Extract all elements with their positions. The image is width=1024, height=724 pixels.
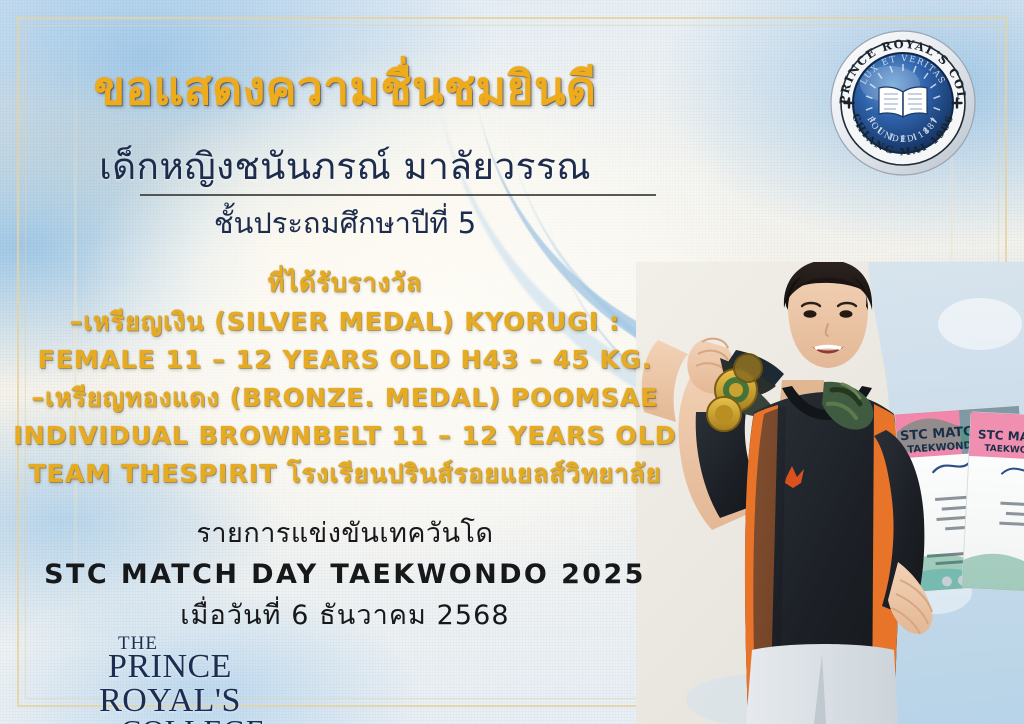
student-name: เด็กหญิงชนันภรณ์ มาลัยวรรณ [0, 137, 690, 196]
award-line: INDIVIDUAL BROWNBELT 11 – 12 YEARS OLD [0, 423, 690, 448]
event-line: รายการแข่งขันเทควันโด [0, 520, 690, 547]
page-title: ขอแสดงความชื่นชมยินดี [0, 52, 690, 125]
student-photo: STC MATCH DAY TAEKWONDO 2025 [636, 262, 1024, 724]
open-book-icon [879, 87, 927, 117]
event-details: รายการแข่งขันเทควันโด STC MATCH DAY TAEK… [0, 520, 690, 629]
congratulations-poster: STC MATCH DAY TAEKWONDO 2025 [0, 0, 1024, 724]
student-grade: ชั้นประถมศึกษาปีที่ 5 [0, 200, 690, 246]
award-line: TEAM THESPIRIT โรงเรียนปรินส์รอยแยลส์วิท… [0, 461, 690, 486]
award-details: ที่ได้รับรางวัล –เหรียญเงิน (SILVER MEDA… [0, 270, 690, 486]
name-divider-rule [140, 194, 656, 196]
school-seal-logo: THE PRINCE ROYAL'S COLLEGE CHIANG MAI 19… [828, 28, 978, 178]
event-line: เมื่อวันที่ 6 ธันวาคม 2568 [0, 602, 690, 629]
wordmark-line-prince-royals: PRINCE ROYAL'S [40, 650, 300, 718]
award-line: –เหรียญทองแดง (BRONZE. MEDAL) POOMSAE [0, 385, 690, 410]
award-line: FEMALE 11 – 12 YEARS OLD H43 – 45 KG. [0, 347, 690, 372]
school-wordmark: THE PRINCE ROYAL'S COLLEGE [40, 634, 300, 724]
award-line: ที่ได้รับรางวัล [0, 270, 690, 295]
award-line: –เหรียญเงิน (SILVER MEDAL) KYORUGI : [0, 309, 690, 334]
event-line: STC MATCH DAY TAEKWONDO 2025 [0, 561, 690, 588]
